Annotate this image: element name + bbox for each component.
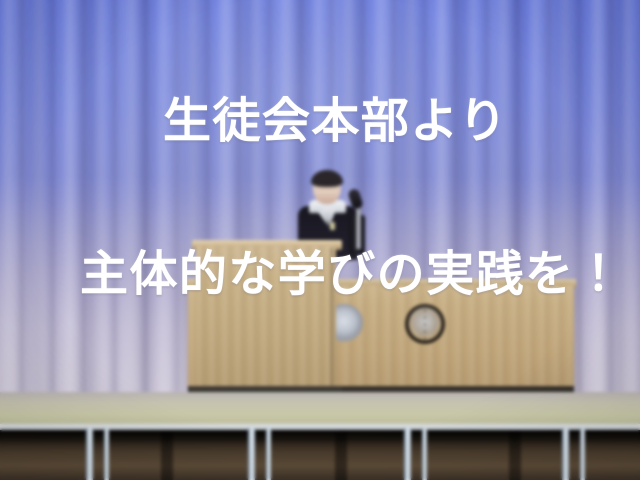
- stage-support-leg: [404, 428, 411, 480]
- stage-floor: [0, 392, 640, 428]
- stage-support-leg: [86, 428, 93, 480]
- speaker-hair: [311, 170, 343, 187]
- stage-support-leg: [266, 428, 271, 480]
- stage-support-leg: [562, 428, 569, 480]
- stage-support-leg: [422, 428, 427, 480]
- school-emblem-right-icon: [405, 304, 445, 344]
- microphone-stand: [356, 205, 361, 249]
- stage-support-leg: [248, 428, 255, 480]
- caption-line-2: 主体的な学びの実践を！: [80, 249, 624, 301]
- under-stage-shadow: [0, 430, 640, 444]
- speaker-badge: [330, 222, 335, 230]
- stage-support-leg: [104, 428, 109, 480]
- slide-photo: 生徒会本部より 主体的な学びの実践を！: [0, 0, 640, 480]
- caption-line-1: 生徒会本部より: [163, 96, 508, 148]
- stage-support-leg: [580, 428, 585, 480]
